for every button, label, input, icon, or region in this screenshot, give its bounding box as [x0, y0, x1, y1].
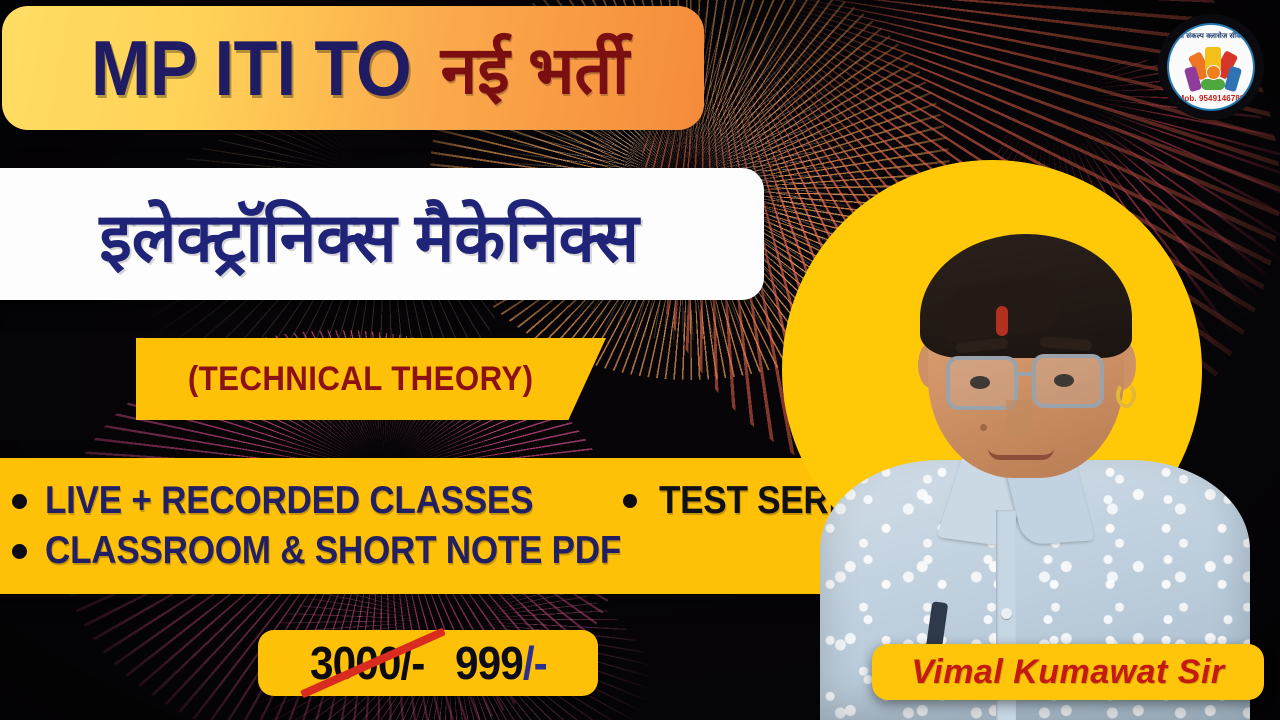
feature-row-2: CLASSROOM & SHORT NOTE PDF [12, 529, 830, 573]
discounted-price-number: 999 [455, 637, 523, 689]
logo-institute-name: श्री संकल्प क्लासेज सीकर [1169, 32, 1253, 41]
feature-live-recorded-classes: LIVE + RECORDED CLASSES [45, 479, 533, 523]
portrait-tilak [996, 306, 1008, 336]
portrait-nose [1006, 400, 1032, 436]
title-hindi: नई भर्ती [441, 23, 630, 113]
logo-ribbon-green [1201, 79, 1225, 90]
logo-mobile-number: Mob. 9549146789 [1169, 94, 1253, 103]
logo-inner-disc: श्री संकल्प क्लासेज सीकर Mob. 9549146789 [1167, 23, 1255, 111]
price-badge: 3000/- 999/- [258, 630, 598, 696]
instructor-name-badge: Vimal Kumawat Sir [872, 644, 1264, 700]
course-name-text: इलेक्ट्रॉनिक्स मैकेनिक्स [99, 188, 638, 281]
feature-row-1: LIVE + RECORDED CLASSES TEST SERIES [12, 479, 830, 523]
title-english: MP ITI TO [91, 23, 411, 114]
portrait-earring [1116, 382, 1136, 408]
bullet-icon [12, 494, 27, 509]
discounted-price: 999/- [455, 636, 547, 690]
feature-classroom-short-note-pdf: CLASSROOM & SHORT NOTE PDF [45, 529, 621, 573]
subtitle-text: (TECHNICAL THEORY) [188, 360, 554, 399]
thumbnail-canvas: MP ITI TO नई भर्ती इलेक्ट्रॉनिक्स मैकेनि… [0, 0, 1280, 720]
portrait-mole [980, 424, 987, 431]
instructor-name: Vimal Kumawat Sir [911, 653, 1224, 692]
bullet-icon [12, 544, 27, 559]
features-box: LIVE + RECORDED CLASSES TEST SERIES CLAS… [0, 458, 860, 594]
original-price-wrapper: 3000/- [305, 636, 429, 690]
logo-center-circle [1206, 65, 1221, 80]
portrait-shirt-button [1001, 608, 1012, 619]
portrait-eyeglass-bridge [1016, 372, 1034, 376]
subtitle-ribbon: (TECHNICAL THEORY) [136, 338, 606, 420]
discounted-price-suffix: /- [523, 637, 547, 689]
title-banner: MP ITI TO नई भर्ती [2, 6, 704, 130]
course-name-banner: इलेक्ट्रॉनिक्स मैकेनिक्स [0, 168, 764, 300]
institute-logo: श्री संकल्प क्लासेज सीकर Mob. 9549146789 [1158, 14, 1264, 120]
logo-emblem-icon [1187, 47, 1239, 91]
bullet-icon [623, 494, 637, 508]
portrait-mouth [988, 448, 1054, 460]
portrait-eyeglass-right [1032, 354, 1104, 408]
